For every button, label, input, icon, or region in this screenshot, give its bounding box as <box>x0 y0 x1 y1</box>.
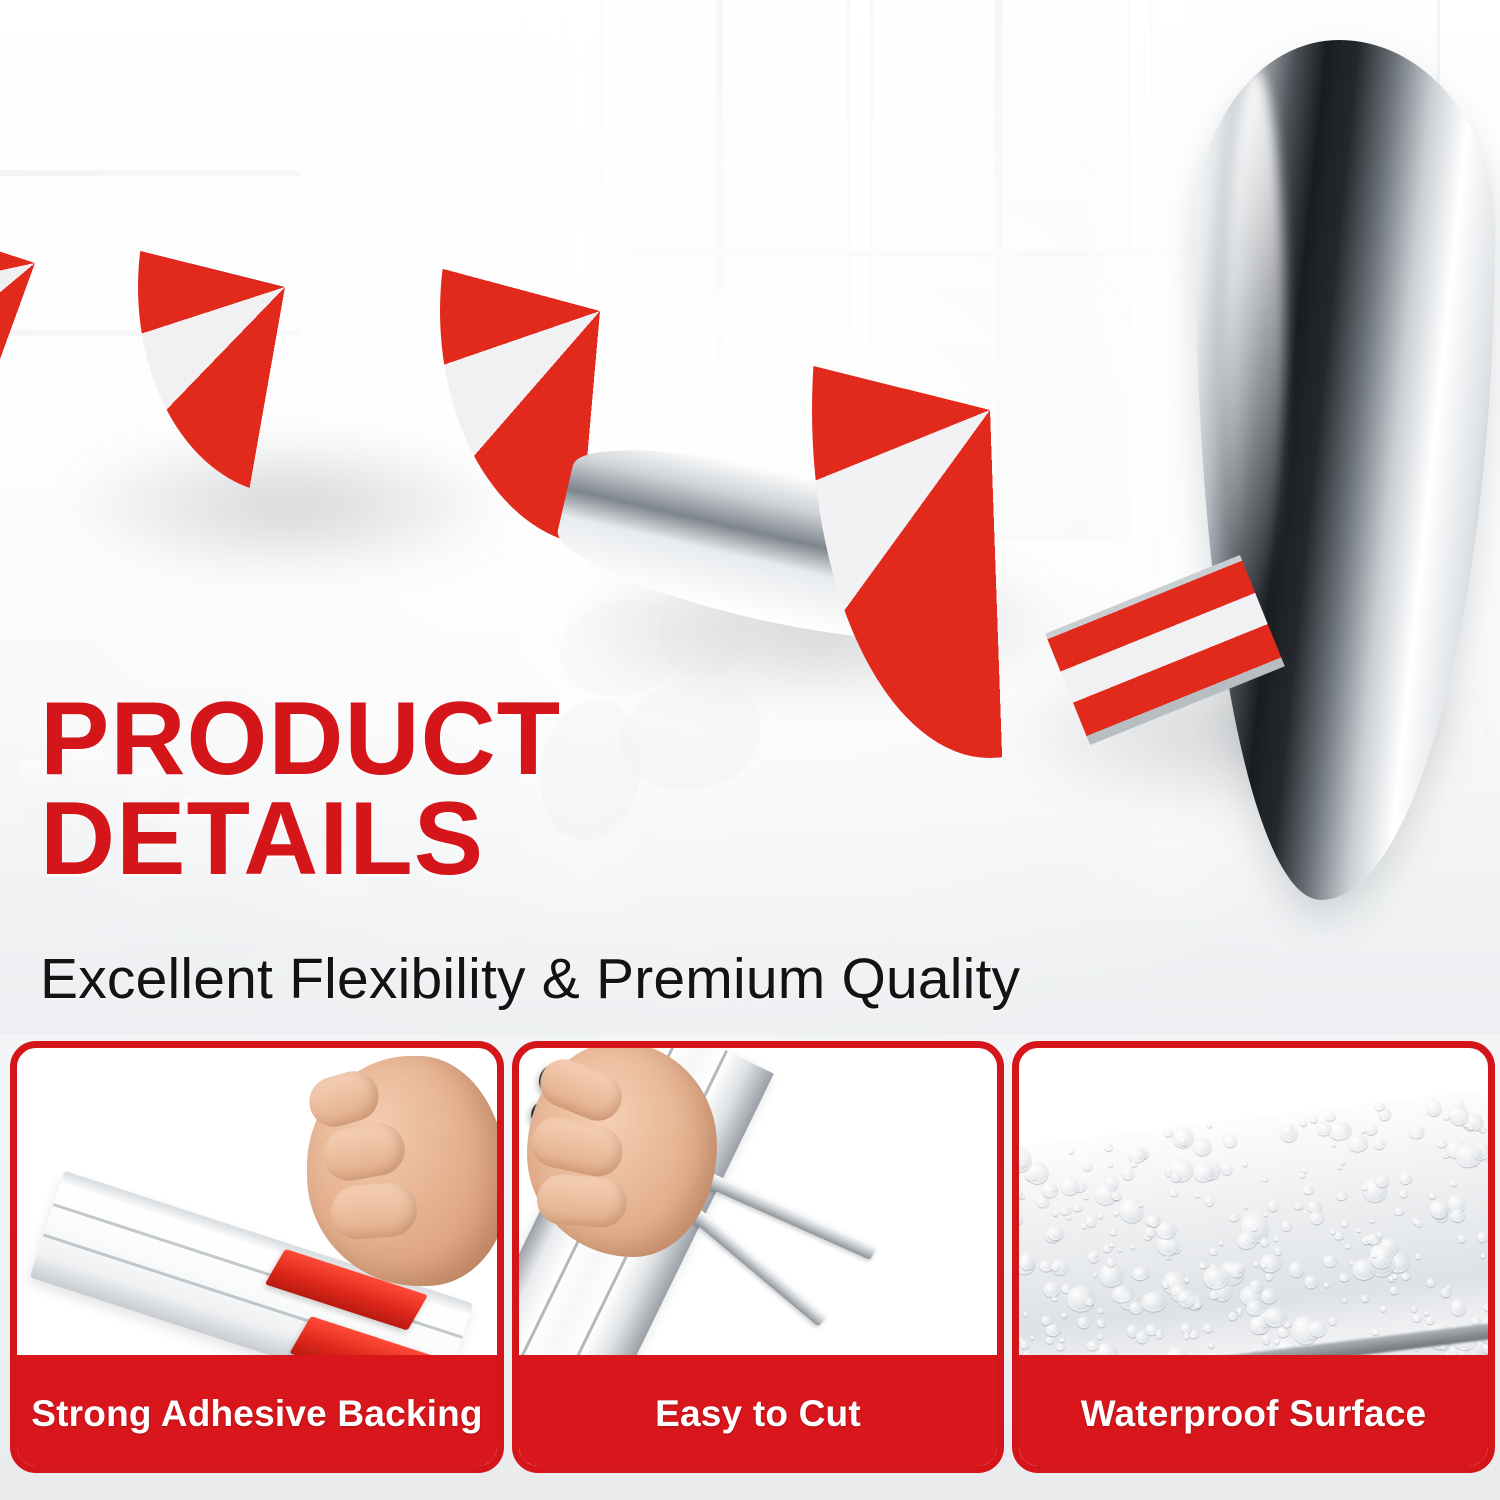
coil-ring-2 <box>120 62 450 512</box>
water-droplet <box>1339 1272 1351 1282</box>
water-droplet <box>1220 1162 1233 1175</box>
water-droplet <box>1450 1208 1465 1222</box>
water-droplet <box>1424 1310 1430 1315</box>
water-droplet <box>1253 1261 1259 1268</box>
water-droplet <box>1487 1301 1493 1307</box>
water-droplet <box>1372 1328 1380 1335</box>
water-droplet <box>1093 1272 1098 1277</box>
water-droplet <box>1118 1247 1123 1252</box>
water-droplet <box>1023 1311 1028 1317</box>
feature-panel-easy-to-cut: Easy to Cut <box>512 1041 1004 1473</box>
water-droplet <box>1127 1147 1146 1164</box>
title-line-1: PRODUCT <box>40 690 1240 790</box>
water-droplet <box>1206 1123 1211 1128</box>
panel-caption-text: Strong Adhesive Backing <box>31 1393 482 1435</box>
water-droplet <box>1300 1119 1308 1126</box>
water-droplet <box>1156 1331 1163 1339</box>
water-droplet <box>1262 1177 1268 1182</box>
water-droplet <box>1012 1204 1014 1216</box>
water-droplet <box>1208 1341 1215 1348</box>
water-droplet <box>1085 1297 1095 1305</box>
water-droplet <box>1260 1287 1278 1304</box>
product-detail-image: PRODUCT DETAILS Excellent Flexibility & … <box>0 0 1500 1500</box>
water-droplet <box>1471 1316 1481 1325</box>
water-droplet <box>1083 1162 1093 1172</box>
water-droplet <box>1052 1296 1058 1301</box>
water-droplet <box>1118 1195 1145 1224</box>
water-droplet <box>1415 1253 1422 1259</box>
water-droplet <box>1399 1172 1412 1184</box>
water-droplet <box>1458 1234 1466 1242</box>
water-droplet <box>1347 1134 1369 1154</box>
water-droplet <box>1281 1220 1292 1231</box>
water-droplet <box>1273 1236 1278 1241</box>
hero-section: PRODUCT DETAILS Excellent Flexibility & … <box>0 0 1500 1035</box>
water-droplet <box>1401 1272 1410 1280</box>
water-droplet <box>1264 1212 1269 1216</box>
water-droplet <box>1288 1262 1305 1279</box>
water-droplet <box>1030 1336 1035 1341</box>
water-droplet <box>1223 1134 1237 1148</box>
water-droplet <box>1219 1241 1224 1246</box>
water-droplet <box>1113 1211 1119 1217</box>
water-droplet <box>1209 1248 1218 1255</box>
water-droplet <box>1279 1123 1298 1143</box>
water-droplet <box>1132 1266 1151 1281</box>
water-droplet <box>1336 1191 1347 1200</box>
water-droplet <box>1450 1298 1467 1316</box>
water-droplet <box>1442 1152 1449 1158</box>
water-droplet <box>1012 1217 1017 1226</box>
water-droplet <box>1428 1193 1436 1200</box>
water-droplet <box>1012 1213 1023 1226</box>
water-droplet <box>1122 1167 1135 1180</box>
water-droplet <box>1412 1314 1422 1322</box>
water-droplet <box>1056 1343 1064 1350</box>
water-droplet <box>1110 1229 1117 1235</box>
water-droplet <box>1267 1200 1279 1212</box>
water-droplet <box>1309 1114 1319 1123</box>
water-droplet <box>1140 1290 1167 1313</box>
water-droplet <box>1328 1316 1337 1325</box>
water-droplet <box>1308 1320 1327 1338</box>
water-droplet <box>1265 1273 1273 1281</box>
water-droplet <box>1415 1219 1422 1227</box>
water-droplet <box>1488 1394 1495 1412</box>
water-droplet <box>1229 1212 1240 1221</box>
water-droplet <box>1129 1301 1144 1315</box>
water-droplet <box>1237 1310 1242 1315</box>
water-droplet <box>1425 1316 1434 1325</box>
water-droplet <box>1060 1338 1066 1343</box>
water-droplet <box>1476 1231 1487 1243</box>
water-droplet <box>1195 1193 1201 1198</box>
water-droplet <box>1488 1339 1495 1348</box>
panel-caption-bar: Strong Adhesive Backing <box>10 1355 504 1473</box>
feature-panel-row: Strong Adhesive Backing Easy to Cut <box>0 1035 1500 1500</box>
water-droplet <box>1202 1323 1214 1334</box>
panel-caption-text: Easy to Cut <box>655 1393 861 1435</box>
water-droplet <box>1072 1203 1083 1212</box>
water-droplet <box>1494 1090 1495 1094</box>
water-droplet <box>1274 1246 1283 1255</box>
water-droplet <box>1200 1262 1208 1269</box>
water-droplet <box>1170 1189 1178 1197</box>
page-subtitle: Excellent Flexibility & Premium Quality <box>40 946 1020 1012</box>
water-droplet <box>1068 1148 1073 1154</box>
water-droplet <box>1244 1205 1249 1209</box>
water-droplet <box>1192 1137 1212 1157</box>
water-droplet <box>1399 1189 1408 1197</box>
water-droplet <box>1486 1102 1495 1127</box>
water-droplet <box>1096 1319 1105 1328</box>
water-droplet <box>1260 1238 1269 1247</box>
water-droplet <box>1135 1330 1148 1344</box>
title-line-2: DETAILS <box>40 790 1240 890</box>
coil-tail-highlight <box>1225 70 1285 610</box>
water-droplet <box>1481 1253 1487 1259</box>
water-droplet <box>1084 1196 1089 1200</box>
water-droplet <box>1261 1334 1271 1344</box>
water-droplet <box>1109 1242 1115 1248</box>
water-droplet <box>1454 1142 1483 1168</box>
water-droplet <box>1409 1125 1425 1140</box>
water-droplet <box>1243 1162 1249 1168</box>
water-droplet <box>1322 1254 1337 1268</box>
water-droplet <box>1309 1210 1325 1225</box>
water-droplet <box>1012 1385 1014 1398</box>
water-droplet <box>1111 1190 1122 1200</box>
water-droplet <box>1375 1174 1389 1187</box>
water-droplet <box>1483 1343 1493 1353</box>
feature-panel-adhesive: Strong Adhesive Backing <box>10 1041 504 1473</box>
panel-caption-bar: Waterproof Surface <box>1012 1355 1495 1473</box>
water-droplet <box>1389 1286 1398 1295</box>
water-droplet <box>1130 1245 1135 1250</box>
water-droplet <box>1325 1112 1336 1121</box>
water-droplet <box>1052 1210 1059 1216</box>
water-droplet <box>1077 1316 1090 1329</box>
water-droplet <box>1087 1250 1099 1263</box>
water-droplet <box>1227 1312 1237 1321</box>
water-droplet <box>1045 1336 1054 1344</box>
water-droplet <box>1047 1225 1065 1241</box>
water-droplet <box>1131 1161 1138 1167</box>
water-droplet <box>1163 1281 1170 1288</box>
water-droplet <box>1204 1195 1214 1206</box>
water-droplet <box>1425 1098 1443 1117</box>
water-droplet <box>1060 1176 1080 1195</box>
water-droplet <box>1340 1160 1345 1165</box>
water-droplet <box>1487 1177 1495 1185</box>
water-droplet <box>1043 1281 1061 1298</box>
water-droplet <box>1012 1382 1018 1390</box>
water-droplet <box>1109 1163 1114 1167</box>
water-droplet <box>1392 1274 1397 1280</box>
water-droplet <box>1490 1248 1495 1253</box>
water-droplet <box>1338 1165 1342 1169</box>
panel-caption-bar: Easy to Cut <box>512 1355 1004 1473</box>
water-droplet <box>1097 1333 1103 1339</box>
water-droplet <box>1062 1312 1068 1317</box>
water-droplet <box>1394 1207 1404 1215</box>
water-droplet <box>1236 1231 1258 1250</box>
water-droplet <box>1342 1221 1348 1227</box>
water-droplet <box>1012 1192 1016 1196</box>
water-droplet <box>1170 1171 1181 1182</box>
water-droplet <box>1361 1295 1370 1303</box>
water-droplet <box>1441 1287 1452 1298</box>
water-droplet <box>1380 1305 1387 1312</box>
water-droplet <box>1294 1202 1303 1210</box>
water-droplet <box>1012 1273 1013 1281</box>
page-title: PRODUCT DETAILS <box>40 690 1240 890</box>
water-droplet <box>1183 1276 1189 1283</box>
water-droplet <box>1099 1308 1104 1313</box>
water-droplet <box>1105 1143 1113 1151</box>
water-droplet <box>1044 1323 1061 1337</box>
water-droplet <box>1345 1244 1350 1249</box>
water-droplet <box>1164 1129 1172 1137</box>
water-droplet <box>1085 1215 1098 1227</box>
water-droplet <box>1098 1214 1103 1219</box>
water-droplet <box>1342 1298 1347 1302</box>
water-droplet <box>1303 1185 1314 1194</box>
water-droplet <box>1494 1103 1495 1114</box>
water-droplet <box>1370 1219 1375 1223</box>
water-droplet <box>1411 1306 1417 1312</box>
water-droplet <box>1304 1275 1318 1289</box>
water-droplet <box>1332 1142 1337 1146</box>
water-droplet <box>1299 1172 1306 1178</box>
water-droplet <box>1041 1181 1058 1198</box>
panel-caption-text: Waterproof Surface <box>1081 1393 1427 1435</box>
water-droplet <box>1365 1122 1378 1135</box>
water-droplet <box>1372 1138 1386 1150</box>
water-droplet <box>1451 1181 1457 1187</box>
water-droplet <box>1323 1282 1329 1288</box>
feature-panel-waterproof: Waterproof Surface <box>1012 1041 1495 1473</box>
water-droplet <box>1012 1385 1018 1393</box>
water-droplet <box>1426 1278 1436 1288</box>
water-droplet <box>1356 1228 1361 1233</box>
water-droplet <box>1361 1129 1366 1133</box>
water-droplet <box>1020 1339 1030 1349</box>
